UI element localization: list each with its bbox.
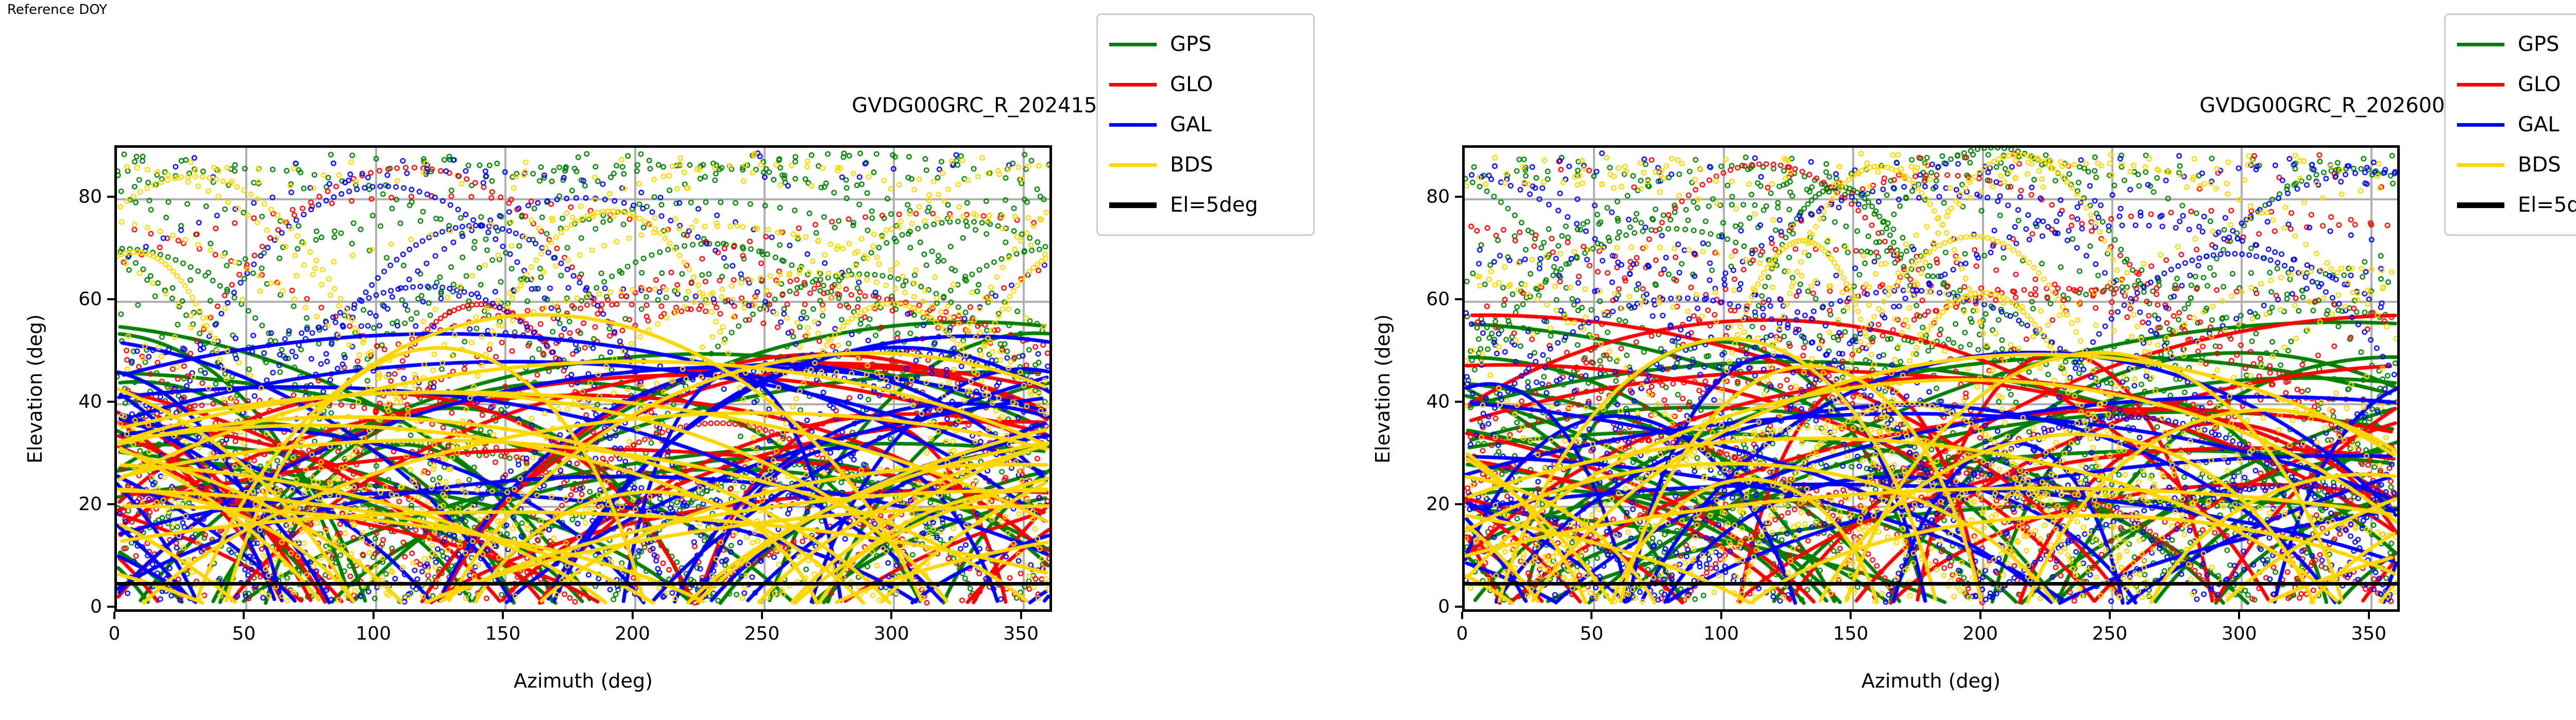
chart-title-right: GVDG00GRC_R_20260050000_01D_30S (1059, 94, 2576, 117)
x-tick-mark (2238, 612, 2240, 619)
legend-item-el-5deg[interactable]: El=5deg (1109, 185, 1302, 225)
y-tick-label: 20 (1390, 493, 1450, 515)
legend-label: GAL (2518, 113, 2560, 136)
legend-item-gal[interactable]: GAL (2457, 105, 2576, 145)
legend-item-glo[interactable]: GLO (2457, 64, 2576, 105)
y-tick-label: 80 (1390, 186, 1450, 207)
x-tick-label: 100 (355, 623, 391, 644)
figure-canvas: Reference DOY GVDG00GRC_R_20241520000_01… (0, 0, 2576, 720)
legend-swatch-gal-icon (2457, 123, 2504, 127)
x-tick-mark (1461, 612, 1463, 619)
x-tick-mark (632, 612, 634, 619)
legend-label: GLO (2518, 73, 2561, 96)
y-tick-mark (107, 298, 114, 300)
x-tick-label: 100 (1703, 623, 1739, 644)
y-tick-mark (107, 606, 114, 608)
y-tick-label: 40 (42, 391, 102, 412)
x-tick-mark (502, 612, 504, 619)
x-axis-label-right: Azimuth (deg) (1861, 670, 2001, 692)
x-tick-label: 0 (109, 623, 121, 644)
legend-item-gps[interactable]: GPS (1109, 24, 1302, 64)
x-tick-mark (1590, 612, 1592, 619)
x-tick-mark (1720, 612, 1722, 619)
x-tick-mark (1979, 612, 1981, 619)
y-tick-mark (107, 196, 114, 198)
legend-left: GPSGLOGALBDSEl=5deg (1096, 13, 1315, 236)
elevation-mask-line (117, 582, 1049, 586)
x-tick-label: 50 (232, 623, 256, 644)
legend-label: El=5deg (2518, 193, 2576, 217)
y-tick-mark (1455, 606, 1462, 608)
y-tick-mark (1455, 503, 1462, 505)
y-tick-mark (1455, 196, 1462, 198)
x-tick-label: 200 (1962, 623, 1998, 644)
legend-item-gps[interactable]: GPS (2457, 24, 2576, 64)
legend-swatch-gps-icon (2457, 43, 2504, 46)
x-tick-mark (1020, 612, 1022, 619)
legend-label: GLO (1170, 73, 1213, 96)
legend-swatch-bds-icon (1109, 163, 1157, 167)
y-tick-label: 80 (42, 186, 102, 207)
satellite-tracks-right (1465, 148, 2397, 609)
y-tick-label: 0 (1390, 596, 1450, 618)
legend-label: BDS (2518, 153, 2561, 177)
legend-label: BDS (1170, 153, 1213, 177)
legend-swatch-gal-icon (1109, 123, 1157, 127)
x-tick-label: 250 (2092, 623, 2128, 644)
x-tick-label: 300 (2222, 623, 2257, 644)
plot-area-left (114, 145, 1052, 612)
legend-swatch-gps-icon (1109, 43, 1157, 46)
x-tick-label: 250 (744, 623, 780, 644)
legend-swatch-glo-icon (1109, 83, 1157, 87)
y-tick-label: 40 (1390, 391, 1450, 412)
legend-label: El=5deg (1170, 193, 1258, 217)
y-tick-label: 60 (42, 288, 102, 310)
legend-swatch-el-5deg-icon (1109, 202, 1157, 208)
plot-area-right (1462, 145, 2400, 612)
legend-swatch-bds-icon (2457, 163, 2504, 167)
legend-item-el-5deg[interactable]: El=5deg (2457, 185, 2576, 225)
x-tick-mark (761, 612, 763, 619)
x-tick-mark (890, 612, 892, 619)
legend-item-bds[interactable]: BDS (1109, 145, 1302, 185)
legend-label: GPS (2518, 32, 2560, 56)
y-tick-mark (107, 503, 114, 505)
y-tick-label: 60 (1390, 288, 1450, 310)
x-tick-label: 50 (1580, 623, 1603, 644)
x-tick-label: 350 (1003, 623, 1039, 644)
x-tick-label: 150 (1833, 623, 1869, 644)
y-axis-label-left: Elevation (deg) (24, 314, 46, 464)
legend-item-bds[interactable]: BDS (2457, 145, 2576, 185)
x-tick-mark (1850, 612, 1852, 619)
x-tick-label: 300 (874, 623, 909, 644)
legend-right: GPSGLOGALBDSEl=5deg (2444, 13, 2576, 236)
y-axis-label-right: Elevation (deg) (1371, 314, 1394, 464)
x-tick-mark (2109, 612, 2111, 619)
satellite-tracks-left (117, 148, 1049, 609)
x-tick-label: 150 (485, 623, 521, 644)
x-tick-label: 200 (615, 623, 650, 644)
x-tick-mark (372, 612, 375, 619)
chart-panel-right: GVDG00GRC_R_20260050000_01D_30S 05010015… (1348, 0, 2576, 720)
y-tick-mark (1455, 298, 1462, 300)
x-tick-label: 350 (2351, 623, 2386, 644)
y-tick-label: 20 (42, 493, 102, 515)
legend-swatch-glo-icon (2457, 83, 2504, 87)
x-tick-mark (2368, 612, 2370, 619)
legend-label: GPS (1170, 32, 1212, 56)
x-tick-label: 0 (1456, 623, 1468, 644)
x-axis-label-left: Azimuth (deg) (514, 670, 653, 692)
elevation-mask-line (1465, 582, 2397, 586)
x-tick-mark (113, 612, 115, 619)
legend-swatch-el-5deg-icon (2457, 202, 2504, 208)
y-tick-mark (1455, 401, 1462, 403)
y-tick-mark (107, 401, 114, 403)
x-tick-mark (243, 612, 245, 619)
y-tick-label: 0 (42, 596, 102, 618)
